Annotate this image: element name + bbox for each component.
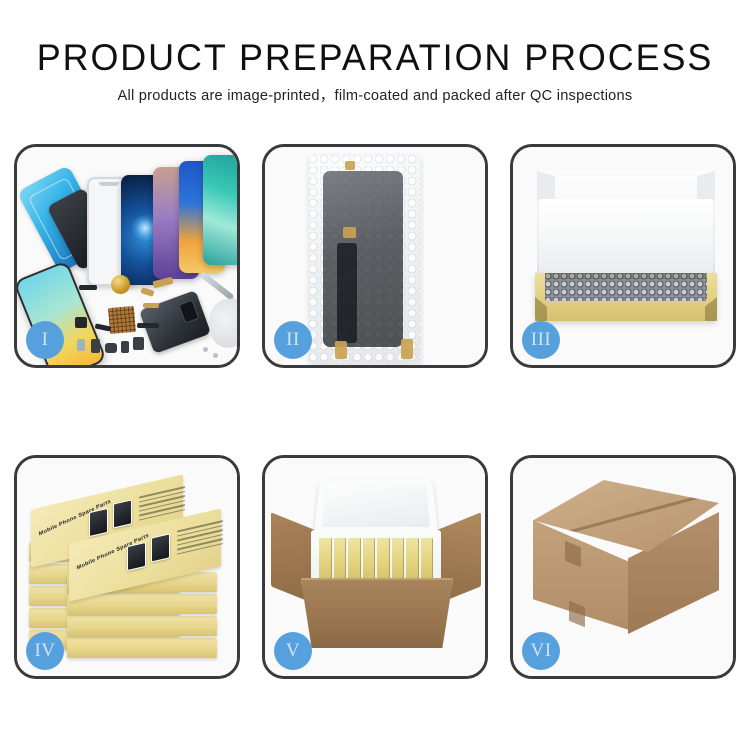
wrapped-screen-icon <box>323 171 403 347</box>
step-badge-4: IV <box>26 632 64 670</box>
speaker-icon <box>105 343 117 353</box>
product-thumbnail <box>89 508 108 537</box>
tweezers-tool-icon <box>199 271 234 300</box>
phone-back-housing-icon <box>139 290 211 354</box>
sensor-icon <box>121 341 129 353</box>
step-badge-6: VI <box>522 632 560 670</box>
gloved-hand-icon <box>204 295 237 351</box>
sim-tray-icon <box>133 337 144 350</box>
process-step-card-2[interactable]: II <box>262 144 488 368</box>
battery-connector-icon <box>79 285 97 290</box>
process-step-card-1[interactable]: I <box>14 144 240 368</box>
process-step-grid: I II III <box>14 144 736 679</box>
tape-icon <box>345 161 355 170</box>
process-step-card-4[interactable]: Mobile Phone Spare Parts Mobile Phone Sp… <box>14 455 240 679</box>
foam-cooler-lid-icon <box>314 478 438 534</box>
page-subtitle: All products are image-printed，film-coat… <box>0 87 750 105</box>
box-inner-shadow <box>545 273 707 279</box>
product-thumbnail <box>127 542 146 571</box>
step-badge-2: II <box>274 321 312 359</box>
screw-icon <box>203 347 208 352</box>
tape-icon <box>343 227 356 238</box>
logic-board-chip-icon <box>108 306 136 334</box>
box-stack-icon: Mobile Phone Spare Parts Mobile Phone Sp… <box>29 480 229 662</box>
tape-icon <box>401 339 413 359</box>
foam-sheet-icon <box>539 199 713 273</box>
page-header: PRODUCT PREPARATION PROCESS All products… <box>0 0 750 105</box>
product-thumbnail <box>113 499 132 528</box>
gold-flex-cable-icon <box>143 303 159 308</box>
process-step-card-3[interactable]: III <box>510 144 736 368</box>
carton-body-icon <box>301 580 453 648</box>
camera-module-icon <box>91 339 100 353</box>
spec-lines <box>177 520 223 559</box>
bubble-wrap-bag-icon <box>309 155 421 363</box>
screw-icon <box>213 353 218 358</box>
speaker-module-icon <box>111 275 130 294</box>
stacked-box <box>67 616 217 636</box>
page-title: PRODUCT PREPARATION PROCESS <box>11 38 739 78</box>
flex-cable-icon <box>137 323 159 328</box>
flex-cable-icon <box>337 243 357 343</box>
gold-flex-cable-icon <box>140 287 154 297</box>
vibrator-module-icon <box>75 317 87 328</box>
stacked-box <box>67 638 217 658</box>
step-badge-5: V <box>274 632 312 670</box>
step-badge-1: I <box>26 321 64 359</box>
phone-green-screen-icon <box>203 155 237 265</box>
step-badge-3: III <box>522 321 560 359</box>
tape-icon <box>335 341 347 359</box>
process-step-card-6[interactable]: VI <box>510 455 736 679</box>
stacked-box <box>67 594 217 614</box>
product-thumbnail <box>151 533 170 562</box>
button-part-icon <box>77 339 85 351</box>
process-step-card-5[interactable]: V <box>262 455 488 679</box>
